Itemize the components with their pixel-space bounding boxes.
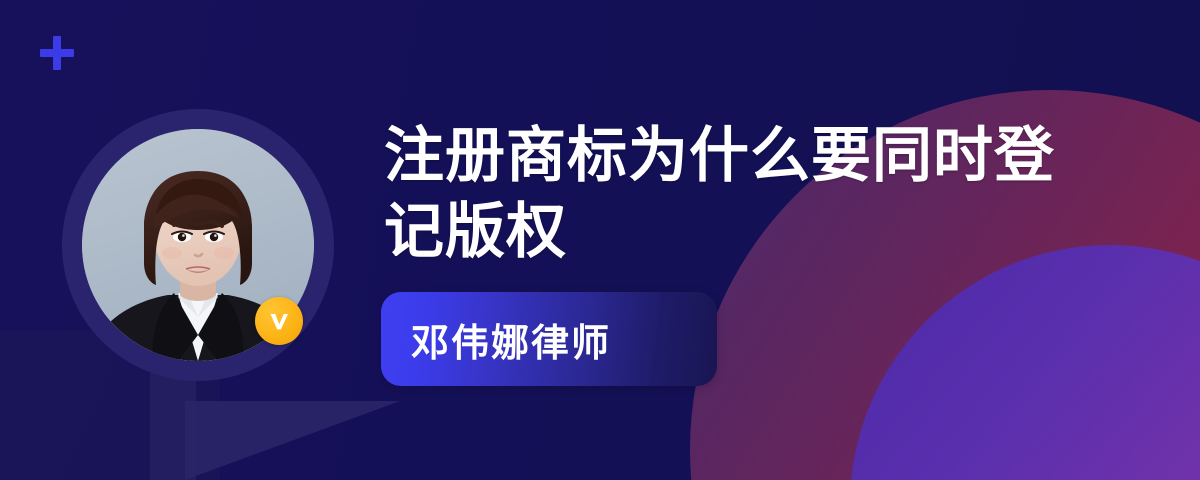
lawyer-name-button[interactable]: 邓伟娜律师 xyxy=(381,292,717,386)
verified-badge-icon xyxy=(255,297,303,345)
page-title: 注册商标为什么要同时登 记版权 xyxy=(384,118,1084,270)
avatar xyxy=(62,109,334,381)
promo-banner: 注册商标为什么要同时登 记版权 邓伟娜律师 xyxy=(0,0,1200,480)
plus-icon xyxy=(40,36,74,70)
decorative-triangle-shape xyxy=(185,401,400,480)
banner-content: 注册商标为什么要同时登 记版权 xyxy=(384,118,1084,270)
decorative-gradient-circle-small xyxy=(850,245,1200,480)
